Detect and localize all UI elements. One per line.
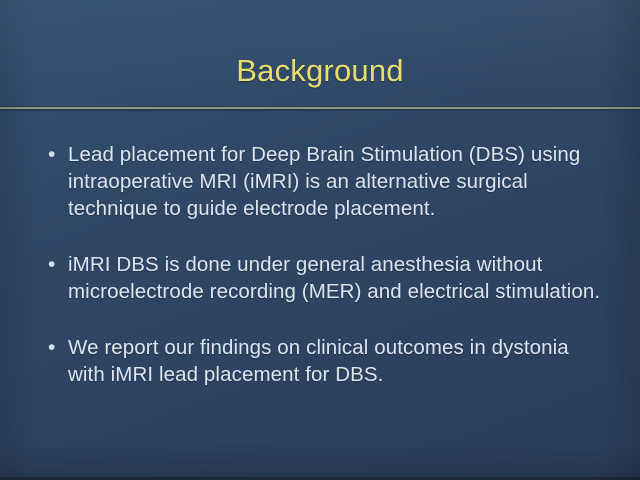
slide-title-area: Background	[0, 34, 640, 107]
bullet-point-icon: •	[46, 251, 68, 278]
bullet-text: Lead placement for Deep Brain Stimulatio…	[68, 141, 602, 222]
title-divider	[0, 106, 640, 112]
bullet-point-icon: •	[46, 334, 68, 361]
slide-body: • Lead placement for Deep Brain Stimulat…	[46, 141, 602, 388]
page-title: Background	[236, 55, 403, 86]
list-item: • We report our findings on clinical out…	[46, 334, 602, 388]
bullet-text: iMRI DBS is done under general anesthesi…	[68, 251, 602, 305]
bullet-text: We report our findings on clinical outco…	[68, 334, 602, 388]
list-item: • iMRI DBS is done under general anesthe…	[46, 251, 602, 305]
bullet-point-icon: •	[46, 141, 68, 168]
presentation-slide: Background • Lead placement for Deep Bra…	[0, 0, 640, 480]
divider-line-bottom	[0, 109, 640, 111]
list-item: • Lead placement for Deep Brain Stimulat…	[46, 141, 602, 222]
